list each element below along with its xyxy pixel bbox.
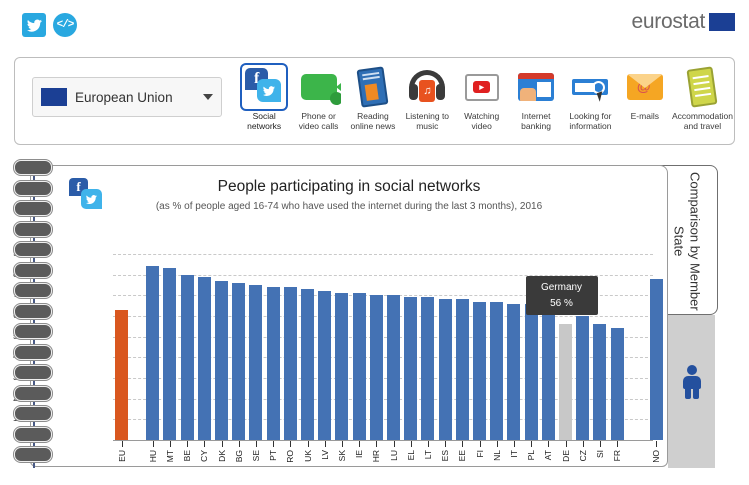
x-axis-tick bbox=[428, 441, 429, 447]
x-axis-label-de: DE bbox=[561, 450, 571, 462]
spiral-ring bbox=[14, 181, 52, 196]
bar-es[interactable] bbox=[439, 299, 452, 440]
x-axis-tick bbox=[600, 441, 601, 447]
embed-glyph: </> bbox=[57, 19, 74, 31]
social-networks-icon: f bbox=[242, 65, 286, 109]
activity-label: Social networks bbox=[237, 111, 291, 131]
spiral-ring bbox=[14, 345, 52, 360]
x-axis-label-ie: IE bbox=[354, 450, 364, 458]
video-call-icon bbox=[297, 65, 341, 109]
x-axis-tick bbox=[394, 441, 395, 447]
bar-lt[interactable] bbox=[421, 297, 434, 440]
x-axis-tick bbox=[290, 441, 291, 447]
x-axis-label-el: EL bbox=[406, 450, 416, 460]
bar-fr[interactable] bbox=[611, 328, 624, 440]
activity-listening-to-music[interactable]: ♫ Listening to music bbox=[400, 65, 454, 131]
spiral-ring bbox=[14, 304, 52, 319]
bar-fi[interactable] bbox=[473, 302, 486, 440]
tooltip-title: Germany bbox=[538, 282, 586, 293]
x-axis-tick bbox=[342, 441, 343, 447]
email-icon: @ bbox=[623, 65, 667, 109]
bar-eu[interactable] bbox=[115, 310, 128, 440]
internet-banking-icon bbox=[514, 65, 558, 109]
x-axis-label-se: SE bbox=[251, 450, 261, 461]
chevron-down-icon bbox=[203, 94, 213, 100]
activity-emails[interactable]: @ E-mails bbox=[618, 65, 672, 121]
x-axis-tick bbox=[480, 441, 481, 447]
video-tablet-icon: ▶ bbox=[460, 65, 504, 109]
x-axis-tick bbox=[531, 441, 532, 447]
gridline bbox=[113, 357, 653, 358]
country-select-value: European Union bbox=[75, 90, 195, 105]
spiral-ring bbox=[14, 201, 52, 216]
embed-code-icon[interactable]: </> bbox=[53, 13, 77, 37]
headphones-icon: ♫ bbox=[405, 65, 449, 109]
x-axis-tick bbox=[514, 441, 515, 447]
bar-mt[interactable] bbox=[163, 268, 176, 440]
x-axis-label-sk: SK bbox=[337, 450, 347, 461]
bar-cy[interactable] bbox=[198, 277, 211, 440]
x-axis-label-lt: LT bbox=[423, 450, 433, 459]
travel-icon bbox=[680, 65, 724, 109]
x-axis-label-fi: FI bbox=[475, 450, 485, 458]
bar-hr[interactable] bbox=[370, 295, 383, 440]
tooltip-value: 56 % bbox=[538, 298, 586, 309]
bar-pt[interactable] bbox=[267, 287, 280, 440]
x-axis-label-nl: NL bbox=[492, 450, 502, 461]
bar-uk[interactable] bbox=[301, 289, 314, 440]
spiral-ring bbox=[14, 427, 52, 442]
spiral-ring bbox=[14, 406, 52, 421]
gridline bbox=[113, 316, 653, 317]
activity-social-networks[interactable]: f Social networks bbox=[237, 65, 291, 131]
x-axis-tick bbox=[222, 441, 223, 447]
spiral-ring bbox=[14, 222, 52, 237]
bar-bg[interactable] bbox=[232, 283, 245, 440]
x-axis-tick bbox=[308, 441, 309, 447]
eu-flag-icon bbox=[709, 13, 735, 31]
tooltip: Germany56 % bbox=[526, 276, 598, 315]
eurostat-logo: eurostat bbox=[632, 10, 735, 34]
gridline bbox=[113, 378, 653, 379]
activity-label: Listening to music bbox=[400, 111, 454, 131]
gridline bbox=[113, 254, 653, 255]
x-axis-line bbox=[113, 440, 653, 441]
search-info-icon bbox=[568, 65, 612, 109]
bar-ee[interactable] bbox=[456, 299, 469, 440]
x-axis-label-uk: UK bbox=[303, 450, 313, 462]
eurostat-wordmark: eurostat bbox=[632, 10, 705, 34]
x-axis-tick bbox=[566, 441, 567, 447]
activity-label: Accommodation and travel bbox=[672, 111, 733, 131]
x-axis-label-no: NO bbox=[651, 450, 661, 463]
country-select[interactable]: European Union bbox=[32, 77, 222, 117]
x-axis-label-pt: PT bbox=[268, 450, 278, 461]
x-axis-tick bbox=[122, 441, 123, 447]
bar-ro[interactable] bbox=[284, 287, 297, 440]
activity-label: Looking for information bbox=[563, 111, 617, 131]
gridline bbox=[113, 337, 653, 338]
bar-se[interactable] bbox=[249, 285, 262, 440]
x-axis-tick bbox=[548, 441, 549, 447]
spiral-ring bbox=[14, 160, 52, 175]
x-axis-tick bbox=[153, 441, 154, 447]
bar-at[interactable] bbox=[542, 306, 555, 440]
x-axis-label-ro: RO bbox=[285, 450, 295, 463]
activity-label: Phone or video calls bbox=[291, 111, 345, 131]
x-axis-tick bbox=[376, 441, 377, 447]
x-axis-label-it: IT bbox=[509, 450, 519, 458]
x-axis-label-be: BE bbox=[182, 450, 192, 461]
spiral-ring bbox=[14, 324, 52, 339]
bar-dk[interactable] bbox=[215, 281, 228, 440]
x-axis-tick bbox=[656, 441, 657, 447]
activity-internet-banking[interactable]: Internet banking bbox=[509, 65, 563, 131]
x-axis-label-lu: LU bbox=[389, 450, 399, 461]
spiral-ring bbox=[14, 386, 52, 401]
activity-label: E-mails bbox=[631, 111, 659, 121]
bar-si[interactable] bbox=[593, 324, 606, 440]
x-axis-label-es: ES bbox=[440, 450, 450, 461]
x-axis-tick bbox=[411, 441, 412, 447]
x-axis-tick bbox=[359, 441, 360, 447]
bar-be[interactable] bbox=[181, 275, 194, 440]
spiral-ring bbox=[14, 283, 52, 298]
bar-lv[interactable] bbox=[318, 291, 331, 440]
bar-hu[interactable] bbox=[146, 266, 159, 440]
top-bar: </> eurostat bbox=[0, 0, 749, 47]
x-axis-label-dk: DK bbox=[217, 450, 227, 462]
bar-el[interactable] bbox=[404, 297, 417, 440]
x-axis-label-mt: MT bbox=[165, 450, 175, 462]
spiral-binding bbox=[10, 160, 56, 472]
x-axis-label-ee: EE bbox=[457, 450, 467, 461]
spiral-ring bbox=[14, 447, 52, 462]
x-axis-tick bbox=[170, 441, 171, 447]
x-axis-label-si: SI bbox=[595, 450, 605, 458]
gridline bbox=[113, 419, 653, 420]
x-axis-tick bbox=[445, 441, 446, 447]
twitter-icon[interactable] bbox=[22, 13, 46, 37]
chart-title: People participating in social networks bbox=[31, 178, 667, 196]
person-icon bbox=[681, 365, 703, 399]
spiral-ring bbox=[14, 242, 52, 257]
chart-subtitle: (as % of people aged 16-74 who have used… bbox=[31, 201, 667, 212]
activity-label: Watching video bbox=[455, 111, 509, 131]
bar-it[interactable] bbox=[507, 304, 520, 440]
x-axis-label-lv: LV bbox=[320, 450, 330, 460]
bar-ie[interactable] bbox=[353, 293, 366, 440]
activity-label: Internet banking bbox=[509, 111, 563, 131]
x-axis-label-cy: CY bbox=[199, 450, 209, 462]
bar-cz[interactable] bbox=[576, 316, 589, 440]
activity-icon-row: f Social networks Phone or video calls R… bbox=[237, 65, 733, 141]
x-axis-tick bbox=[204, 441, 205, 447]
bar-lu[interactable] bbox=[387, 295, 400, 440]
x-axis-label-eu: EU bbox=[117, 450, 127, 462]
activity-phone-video-calls[interactable]: Phone or video calls bbox=[291, 65, 345, 131]
x-axis-label-hu: HU bbox=[148, 450, 158, 462]
x-axis-tick bbox=[617, 441, 618, 447]
online-news-icon bbox=[351, 65, 395, 109]
bar-no[interactable] bbox=[650, 279, 663, 440]
bar-de[interactable] bbox=[559, 324, 572, 440]
bar-nl[interactable] bbox=[490, 302, 503, 440]
activity-watching-video[interactable]: ▶ Watching video bbox=[455, 65, 509, 131]
gridline bbox=[113, 399, 653, 400]
x-axis-tick bbox=[187, 441, 188, 447]
activity-reading-online-news[interactable]: Reading online news bbox=[346, 65, 400, 131]
x-axis-label-cz: CZ bbox=[578, 450, 588, 461]
x-axis-tick bbox=[273, 441, 274, 447]
eu-flag-icon bbox=[41, 88, 67, 106]
x-axis-label-pl: PL bbox=[526, 450, 536, 460]
bar-sk[interactable] bbox=[335, 293, 348, 440]
x-axis-label-hr: HR bbox=[371, 450, 381, 462]
spiral-ring bbox=[14, 365, 52, 380]
activity-looking-for-information[interactable]: Looking for information bbox=[563, 65, 617, 131]
x-axis-tick bbox=[256, 441, 257, 447]
x-axis-tick bbox=[497, 441, 498, 447]
x-axis-tick bbox=[583, 441, 584, 447]
x-axis-label-at: AT bbox=[543, 450, 553, 460]
x-axis-tick bbox=[239, 441, 240, 447]
activity-label: Reading online news bbox=[346, 111, 400, 131]
selector-card: European Union f Social networks Phone o… bbox=[14, 57, 735, 145]
bar-pl[interactable] bbox=[525, 304, 538, 440]
x-axis-label-fr: FR bbox=[612, 450, 622, 461]
chart-panel: f People participating in social network… bbox=[30, 165, 668, 467]
x-axis-tick bbox=[462, 441, 463, 447]
x-axis-tick bbox=[325, 441, 326, 447]
x-axis-label-bg: BG bbox=[234, 450, 244, 462]
activity-accommodation-and-travel[interactable]: Accommodation and travel bbox=[672, 65, 733, 131]
spiral-ring bbox=[14, 263, 52, 278]
